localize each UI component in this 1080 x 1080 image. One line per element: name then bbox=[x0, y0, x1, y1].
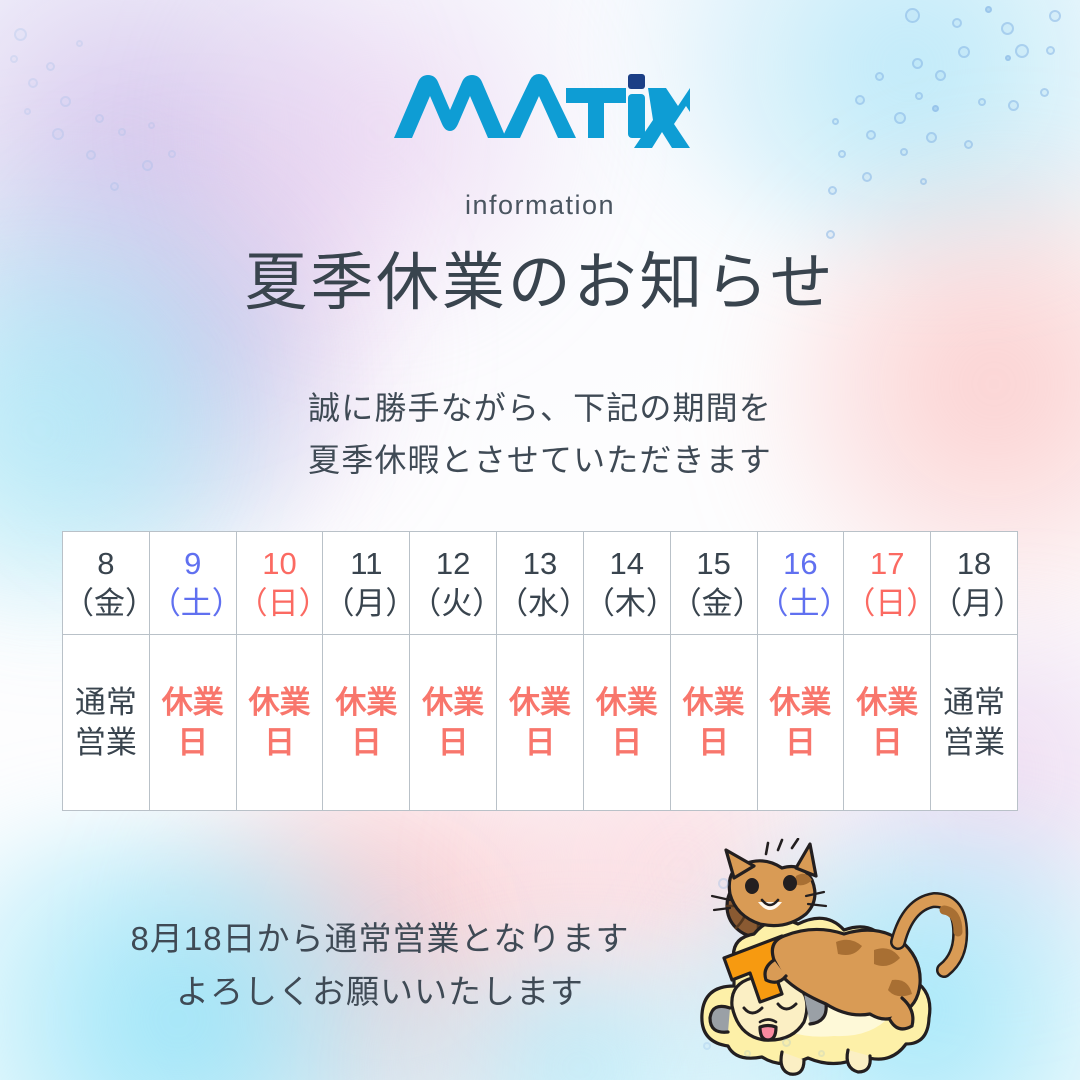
mascot-illustration bbox=[686, 838, 1046, 1080]
sheep-tongue bbox=[760, 1026, 776, 1041]
status-line-1: 休業 bbox=[150, 683, 236, 723]
date-weekday: （月） bbox=[323, 584, 409, 624]
date-number: 12 bbox=[410, 544, 496, 584]
date-number: 11 bbox=[323, 544, 409, 584]
date-number: 10 bbox=[237, 544, 323, 584]
status-line-2: 営業 bbox=[63, 723, 149, 763]
matix-logo-svg bbox=[390, 72, 690, 150]
date-weekday: （水） bbox=[497, 584, 583, 624]
calendar-date-cell-9: 9（土） bbox=[149, 532, 236, 635]
status-line-2: 営業 bbox=[931, 723, 1017, 763]
wash-lavender-2 bbox=[0, 120, 460, 580]
status-line-1: 休業 bbox=[410, 683, 496, 723]
status-line-1: 休業 bbox=[844, 683, 930, 723]
status-line-2: 日 bbox=[237, 723, 323, 763]
calendar-status-row: 通常営業休業日休業日休業日休業日休業日休業日休業日休業日休業日通常営業 bbox=[63, 635, 1018, 811]
lead-line-2: 夏季休暇とさせていただきます bbox=[0, 435, 1080, 487]
status-line-1: 休業 bbox=[237, 683, 323, 723]
lead-paragraph: 誠に勝手ながら、下記の期間を 夏季休暇とさせていただきます bbox=[0, 383, 1080, 487]
calendar-status-cell-17: 休業日 bbox=[844, 635, 931, 811]
status-line-1: 休業 bbox=[758, 683, 844, 723]
date-weekday: （土） bbox=[758, 584, 844, 624]
date-number: 13 bbox=[497, 544, 583, 584]
date-number: 16 bbox=[758, 544, 844, 584]
calendar-date-cell-8: 8（金） bbox=[63, 532, 150, 635]
date-number: 9 bbox=[150, 544, 236, 584]
date-weekday: （金） bbox=[63, 584, 149, 624]
date-weekday: （木） bbox=[584, 584, 670, 624]
calendar-date-row: 8（金）9（土）10（日）11（月）12（火）13（水）14（木）15（金）16… bbox=[63, 532, 1018, 635]
calendar-date-cell-14: 14（木） bbox=[583, 532, 670, 635]
calendar-status-cell-10: 休業日 bbox=[236, 635, 323, 811]
date-number: 14 bbox=[584, 544, 670, 584]
date-weekday: （日） bbox=[237, 584, 323, 624]
status-line-2: 日 bbox=[671, 723, 757, 763]
date-weekday: （日） bbox=[844, 584, 930, 624]
status-line-2: 日 bbox=[584, 723, 670, 763]
footer-line-2: よろしくお願いいたします bbox=[0, 965, 760, 1018]
date-number: 8 bbox=[63, 544, 149, 584]
status-line-2: 日 bbox=[410, 723, 496, 763]
logo-i-dot bbox=[628, 74, 645, 89]
brand-logo bbox=[0, 72, 1080, 155]
calendar-status-cell-8: 通常営業 bbox=[63, 635, 150, 811]
sheep-and-cat-svg bbox=[686, 838, 1046, 1080]
calendar-status-cell-16: 休業日 bbox=[757, 635, 844, 811]
calendar-date-cell-18: 18（月） bbox=[931, 532, 1018, 635]
sheep-horn-left bbox=[710, 1006, 730, 1032]
footer-line-1: 8月18日から通常営業となります bbox=[0, 912, 760, 965]
status-line-2: 日 bbox=[758, 723, 844, 763]
calendar-date-cell-13: 13（水） bbox=[497, 532, 584, 635]
status-line-1: 通常 bbox=[931, 683, 1017, 723]
calendar-date-cell-12: 12（火） bbox=[410, 532, 497, 635]
date-weekday: （火） bbox=[410, 584, 496, 624]
status-line-1: 休業 bbox=[584, 683, 670, 723]
poster-canvas: information 夏季休業のお知らせ 誠に勝手ながら、下記の期間を 夏季休… bbox=[0, 0, 1080, 1080]
status-line-2: 日 bbox=[323, 723, 409, 763]
calendar-status-cell-11: 休業日 bbox=[323, 635, 410, 811]
footer-message: 8月18日から通常営業となります よろしくお願いいたします bbox=[0, 912, 760, 1019]
status-line-2: 日 bbox=[150, 723, 236, 763]
lead-line-1: 誠に勝手ながら、下記の期間を bbox=[0, 383, 1080, 435]
calendar-date-cell-10: 10（日） bbox=[236, 532, 323, 635]
calendar-date-cell-11: 11（月） bbox=[323, 532, 410, 635]
calendar-status-cell-18: 通常営業 bbox=[931, 635, 1018, 811]
status-line-1: 休業 bbox=[323, 683, 409, 723]
calendar-status-cell-9: 休業日 bbox=[149, 635, 236, 811]
calendar-date-cell-15: 15（金） bbox=[670, 532, 757, 635]
calendar-date-cell-17: 17（日） bbox=[844, 532, 931, 635]
calendar-status-cell-15: 休業日 bbox=[670, 635, 757, 811]
calendar-status-cell-13: 休業日 bbox=[497, 635, 584, 811]
holiday-calendar: 8（金）9（土）10（日）11（月）12（火）13（水）14（木）15（金）16… bbox=[62, 531, 1018, 811]
status-line-2: 日 bbox=[844, 723, 930, 763]
calendar-date-cell-16: 16（土） bbox=[757, 532, 844, 635]
date-number: 15 bbox=[671, 544, 757, 584]
date-weekday: （土） bbox=[150, 584, 236, 624]
eyebrow-information: information bbox=[0, 190, 1080, 221]
date-number: 17 bbox=[844, 544, 930, 584]
date-number: 18 bbox=[931, 544, 1017, 584]
status-line-1: 通常 bbox=[63, 683, 149, 723]
calendar-status-cell-14: 休業日 bbox=[583, 635, 670, 811]
page-title: 夏季休業のお知らせ bbox=[0, 232, 1080, 323]
status-line-1: 休業 bbox=[497, 683, 583, 723]
date-weekday: （金） bbox=[671, 584, 757, 624]
status-line-2: 日 bbox=[497, 723, 583, 763]
calendar-status-cell-12: 休業日 bbox=[410, 635, 497, 811]
status-line-1: 休業 bbox=[671, 683, 757, 723]
date-weekday: （月） bbox=[931, 584, 1017, 624]
calendar-table: 8（金）9（土）10（日）11（月）12（火）13（水）14（木）15（金）16… bbox=[62, 531, 1018, 811]
